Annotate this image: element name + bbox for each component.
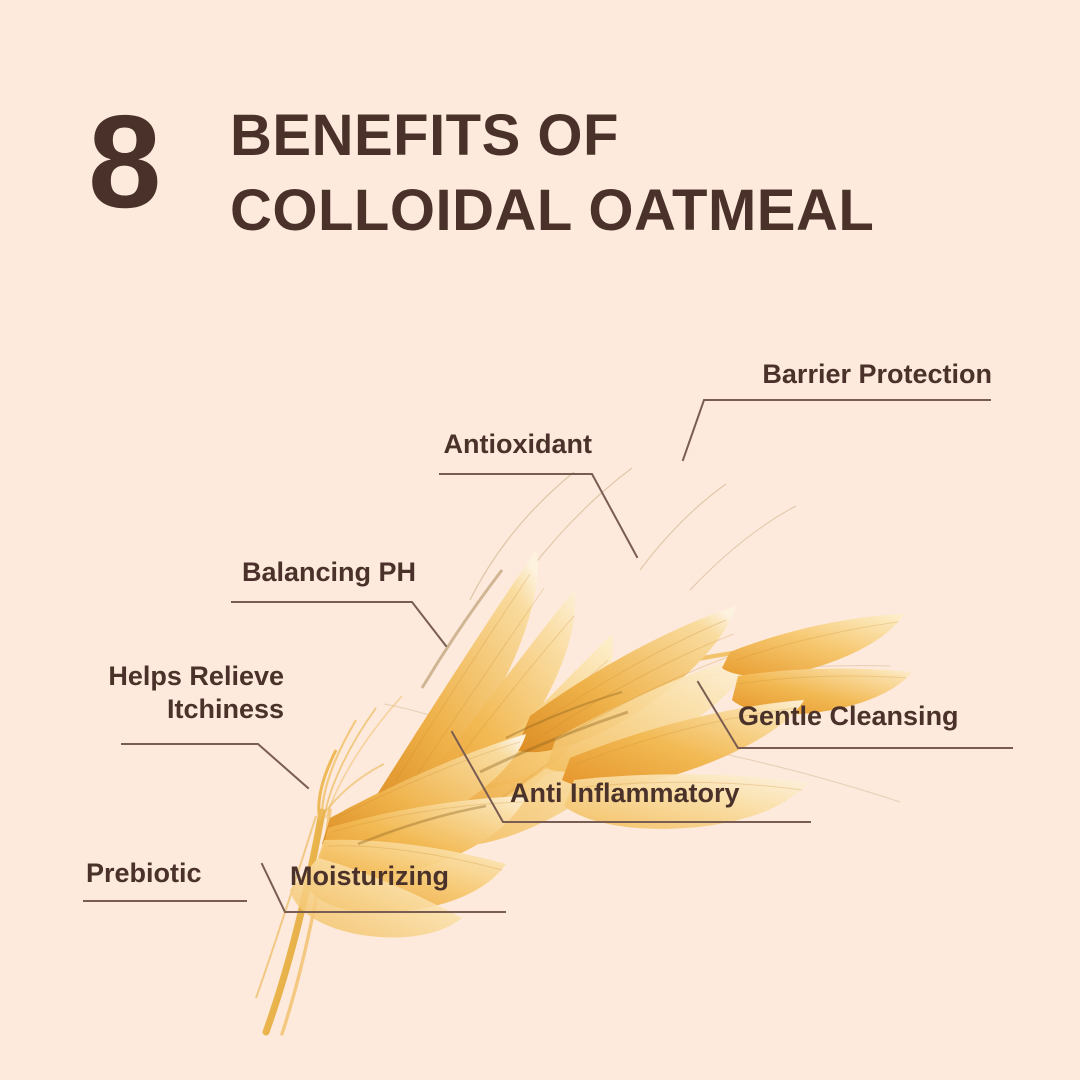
callout-label-barrier-protection: Barrier Protection xyxy=(640,358,992,391)
callout-prebiotic[interactable]: Prebiotic xyxy=(86,857,286,890)
callout-label-gentle-cleansing: Gentle Cleansing xyxy=(738,700,1028,733)
page-title: BENEFITS OF COLLOIDAL OATMEAL xyxy=(230,98,874,249)
callout-helps-relieve-itchiness[interactable]: Helps Relieve Itchiness xyxy=(18,660,284,726)
callout-gentle-cleansing[interactable]: Gentle Cleansing xyxy=(738,700,1028,733)
callout-label-prebiotic: Prebiotic xyxy=(86,857,286,890)
infographic-canvas: 8 BENEFITS OF COLLOIDAL OATMEAL xyxy=(0,0,1080,1080)
callout-label-helps-relieve-itchiness-line-1: Helps Relieve xyxy=(18,660,284,693)
callout-anti-inflammatory[interactable]: Anti Inflammatory xyxy=(510,777,830,810)
callout-balancing-ph[interactable]: Balancing PH xyxy=(140,556,416,589)
callout-label-helps-relieve-itchiness-line-2: Itchiness xyxy=(18,693,284,726)
header: 8 BENEFITS OF COLLOIDAL OATMEAL xyxy=(0,0,1080,260)
page-title-line-2: COLLOIDAL OATMEAL xyxy=(230,173,874,248)
page-title-line-1: BENEFITS OF xyxy=(230,98,874,173)
benefit-count-number: 8 xyxy=(88,96,159,228)
callout-label-anti-inflammatory: Anti Inflammatory xyxy=(510,777,830,810)
callout-moisturizing[interactable]: Moisturizing xyxy=(290,860,530,893)
callout-label-antioxidant: Antioxidant xyxy=(300,428,592,461)
callout-label-balancing-ph: Balancing PH xyxy=(140,556,416,589)
callout-antioxidant[interactable]: Antioxidant xyxy=(300,428,592,461)
callout-label-moisturizing: Moisturizing xyxy=(290,860,530,893)
callout-barrier-protection[interactable]: Barrier Protection xyxy=(640,358,992,391)
